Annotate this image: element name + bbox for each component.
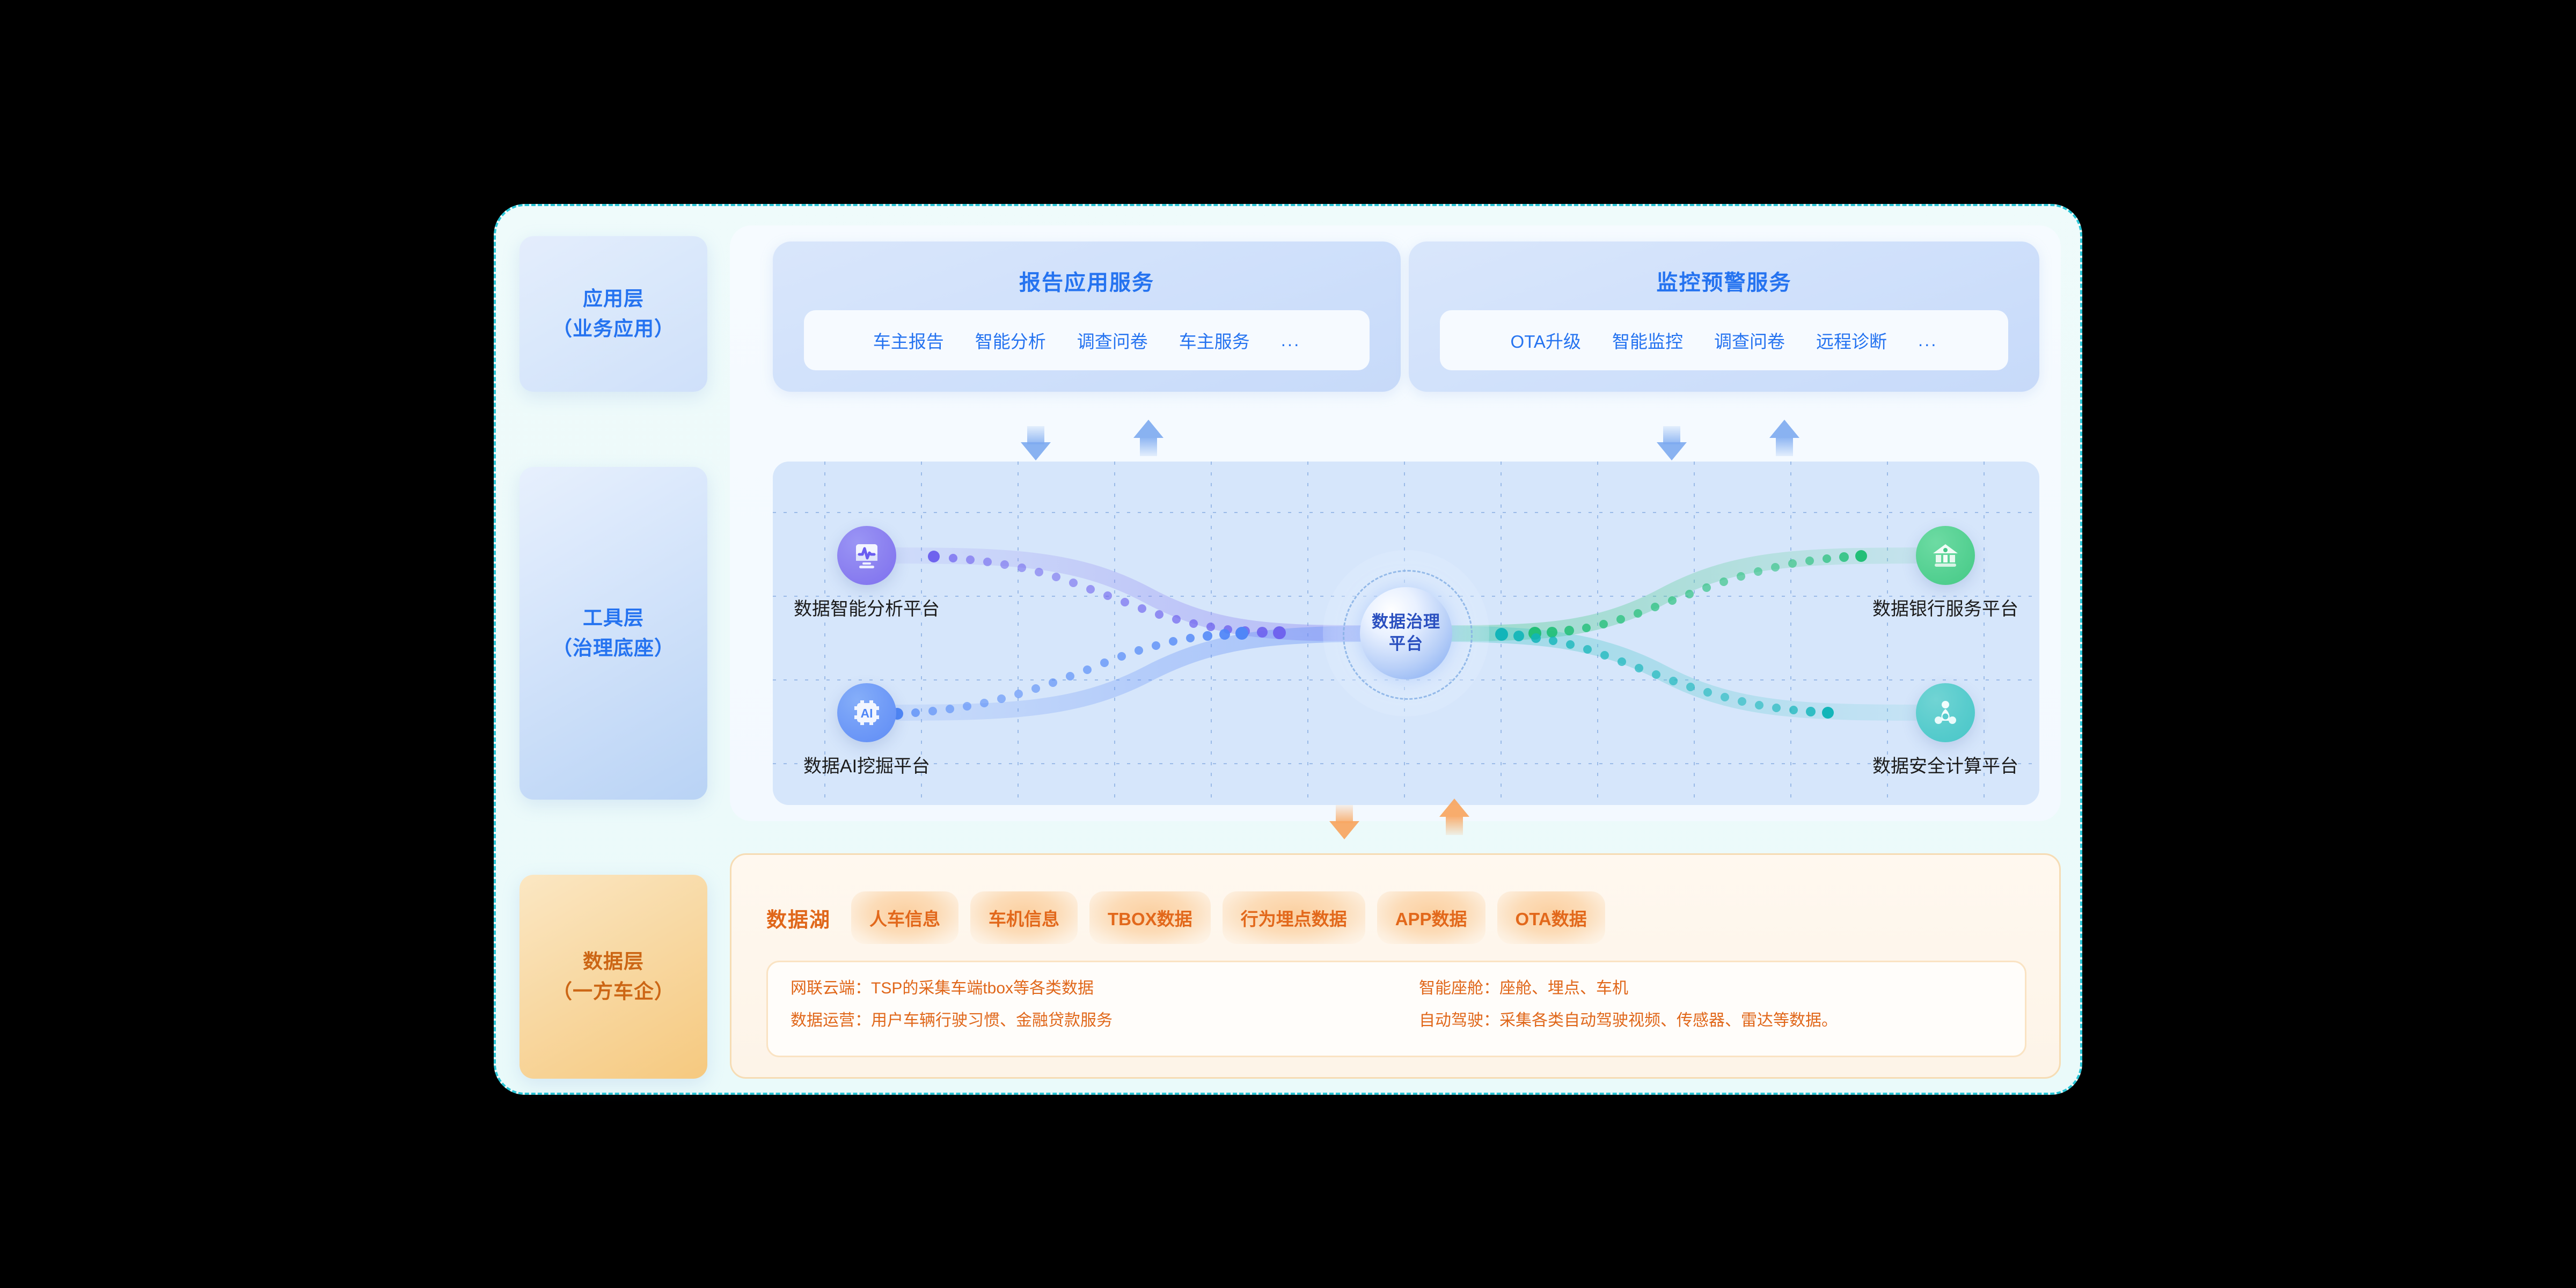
layer-chip-data-line1: 数据层 xyxy=(583,947,644,977)
layer-chip-tool-line2: （治理底座） xyxy=(552,633,675,663)
data-lake-desc-right: 智能座舱：座舱、埋点、车机 自动驾驶：采集各类自动驾驶视频、传感器、雷达等数据。 xyxy=(1396,962,2025,1056)
data-lake-desc-left-0: 网联云端：TSP的采集车端tbox等各类数据 xyxy=(791,980,1396,997)
data-lake-desc-left-1: 数据运营：用户车辆行驶习惯、金融贷款服务 xyxy=(791,1013,1396,1029)
layer-chip-data[interactable]: 数据层 （一方车企） xyxy=(519,875,707,1079)
service-item-report-0[interactable]: 车主报告 xyxy=(873,327,944,353)
hub-label-line1: 数据治理 xyxy=(1372,611,1440,633)
service-item-monitor-0[interactable]: OTA升级 xyxy=(1511,327,1581,353)
secure-share-icon xyxy=(1916,683,1975,742)
service-card-monitor[interactable]: 监控预警服务 OTA升级 智能监控 调查问卷 远程诊断 ... xyxy=(1409,241,2039,392)
ai-chip-icon: AI xyxy=(837,683,896,742)
service-card-report-title: 报告应用服务 xyxy=(773,265,1401,296)
data-lake-description-box: 网联云端：TSP的采集车端tbox等各类数据 数据运营：用户车辆行驶习惯、金融贷… xyxy=(766,961,2026,1057)
hub-core: 数据治理 平台 xyxy=(1360,587,1452,679)
data-lake-tag-4[interactable]: APP数据 xyxy=(1377,891,1485,944)
layer-chip-tool-line1: 工具层 xyxy=(583,603,644,633)
service-item-monitor-1[interactable]: 智能监控 xyxy=(1612,327,1683,353)
bank-building-icon xyxy=(1916,526,1975,585)
service-card-report[interactable]: 报告应用服务 车主报告 智能分析 调查问卷 车主服务 ... xyxy=(773,241,1401,392)
service-item-monitor-more[interactable]: ... xyxy=(1918,330,1938,350)
hub-label-line2: 平台 xyxy=(1389,633,1423,655)
service-item-monitor-3[interactable]: 远程诊断 xyxy=(1816,327,1887,353)
service-item-monitor-2[interactable]: 调查问卷 xyxy=(1714,327,1785,353)
service-item-report-more[interactable]: ... xyxy=(1281,330,1301,350)
tool-layer-canvas: 数据治理 平台 数据智能分析平台 xyxy=(773,462,2039,805)
data-lake-tag-3[interactable]: 行为埋点数据 xyxy=(1223,891,1365,944)
data-lake-tag-2[interactable]: TBOX数据 xyxy=(1089,891,1211,944)
node-data-bank-platform-label: 数据银行服务平台 xyxy=(1806,594,2039,620)
service-card-monitor-items: OTA升级 智能监控 调查问卷 远程诊断 ... xyxy=(1440,310,2008,370)
data-lake-title: 数据湖 xyxy=(766,903,831,933)
data-lake-desc-right-1: 自动驾驶：采集各类自动驾驶视频、传感器、雷达等数据。 xyxy=(1419,1013,2025,1029)
svg-text:AI: AI xyxy=(861,706,873,720)
service-card-monitor-title: 监控预警服务 xyxy=(1409,265,2039,296)
service-item-report-1[interactable]: 智能分析 xyxy=(975,327,1046,353)
service-card-report-items: 车主报告 智能分析 调查问卷 车主服务 ... xyxy=(804,310,1370,370)
layer-chip-data-line2: （一方车企） xyxy=(552,977,675,1007)
layer-chip-tool[interactable]: 工具层 （治理底座） xyxy=(519,467,707,800)
layer-chip-application[interactable]: 应用层 （业务应用） xyxy=(519,236,707,392)
service-item-report-2[interactable]: 调查问卷 xyxy=(1077,327,1148,353)
layer-chip-application-line1: 应用层 xyxy=(583,284,644,314)
layer-chip-application-line2: （业务应用） xyxy=(552,314,675,344)
data-lake-desc-right-0: 智能座舱：座舱、埋点、车机 xyxy=(1419,980,2025,997)
data-lake-tag-1[interactable]: 车机信息 xyxy=(970,891,1078,944)
data-lake-desc-left: 网联云端：TSP的采集车端tbox等各类数据 数据运营：用户车辆行驶习惯、金融贷… xyxy=(768,962,1396,1056)
diagram-canvas: 应用层 （业务应用） 工具层 （治理底座） 数据层 （一方车企） 报告应用服务 … xyxy=(0,0,2576,1288)
data-lake-tag-row: 数据湖 人车信息 车机信息 TBOX数据 行为埋点数据 APP数据 OTA数据 xyxy=(766,885,1605,950)
data-lake-tag-5[interactable]: OTA数据 xyxy=(1497,891,1605,944)
service-item-report-3[interactable]: 车主服务 xyxy=(1179,327,1250,353)
monitor-pulse-icon xyxy=(837,526,896,585)
data-lake-tag-0[interactable]: 人车信息 xyxy=(851,891,958,944)
node-data-ai-platform-label: 数据AI挖掘平台 xyxy=(773,751,1006,778)
node-secure-compute-platform-label: 数据安全计算平台 xyxy=(1806,751,2039,778)
node-data-analysis-platform-label: 数据智能分析平台 xyxy=(773,594,1006,620)
